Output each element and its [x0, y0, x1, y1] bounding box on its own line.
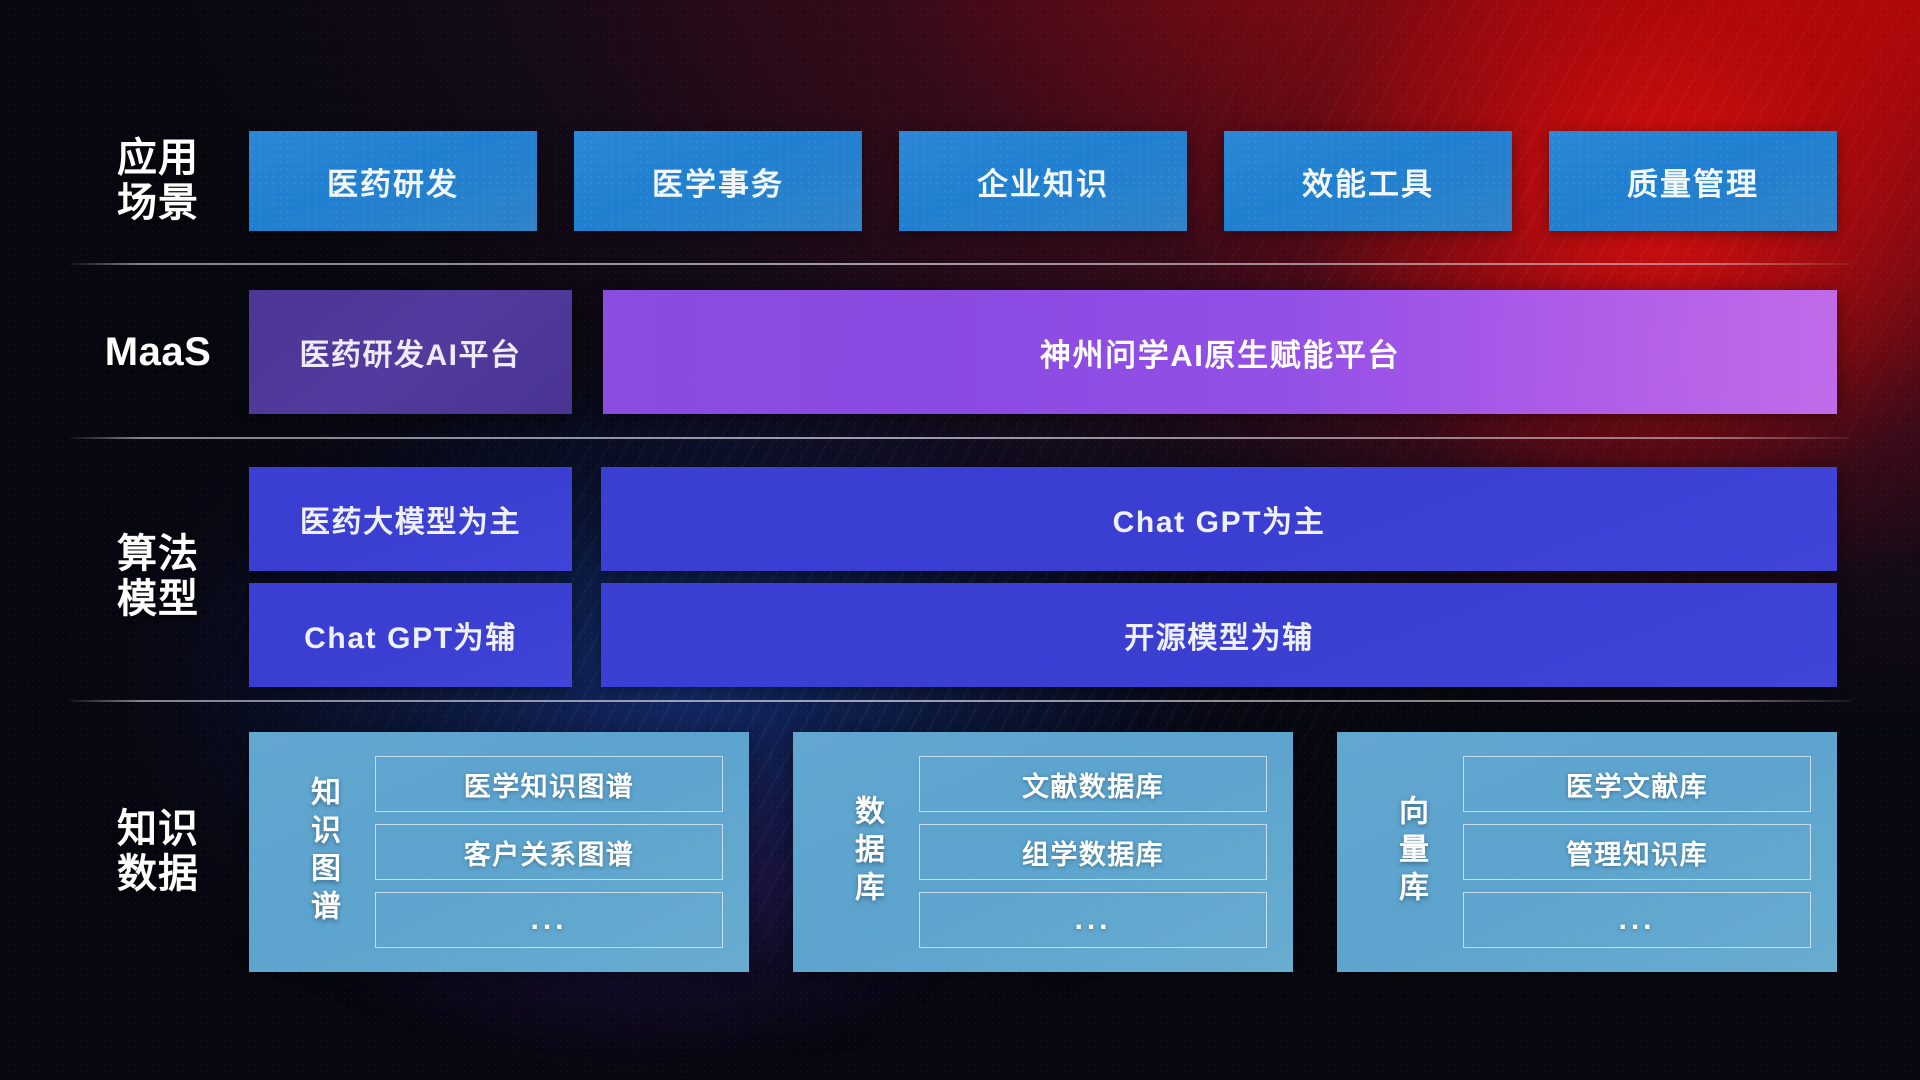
maas-card-label: 神州问学AI原生赋能平台: [1040, 330, 1400, 375]
algorithm-card-label: 医药大模型为主: [300, 497, 521, 541]
knowledge-panel-title: 数据库: [793, 732, 905, 972]
divider-after-maas: [70, 437, 1850, 439]
scenario-card-label: 效能工具: [1302, 159, 1434, 204]
row-label-maas: MaaS: [84, 290, 232, 414]
knowledge-item[interactable]: 文献数据库: [919, 756, 1267, 812]
maas-card-label: 医药研发AI平台: [300, 330, 522, 374]
scenario-card-label: 医学事务: [652, 159, 784, 204]
maas-card-medicine-rd-ai-platform[interactable]: 医药研发AI平台: [249, 290, 572, 414]
knowledge-item-more[interactable]: ...: [1463, 892, 1811, 948]
knowledge-panel-knowledge-graph[interactable]: 知识图谱 医学知识图谱 客户关系图谱 ...: [249, 732, 749, 972]
algorithm-card-label: Chat GPT为主: [1113, 497, 1326, 541]
knowledge-panel-items: 医学知识图谱 客户关系图谱 ...: [361, 732, 749, 972]
scenario-card-medical-affairs[interactable]: 医学事务: [574, 131, 862, 231]
maas-card-shenzhou-wenxue-platform[interactable]: 神州问学AI原生赋能平台: [603, 290, 1837, 414]
scenario-card-label: 医药研发: [327, 159, 459, 204]
knowledge-panel-vector-store[interactable]: 向量库 医学文献库 管理知识库 ...: [1337, 732, 1837, 972]
scenario-card-label: 企业知识: [977, 159, 1109, 204]
algorithm-card-medicine-large-model-primary[interactable]: 医药大模型为主: [249, 467, 572, 571]
algorithm-card-chatgpt-primary[interactable]: Chat GPT为主: [601, 467, 1837, 571]
architecture-rows: 应用 场景 医药研发 医学事务 企业知识 效能工具 质量管理 MaaS 医药研发…: [0, 0, 1920, 1080]
divider-after-algorithm-model: [70, 700, 1850, 702]
knowledge-item-more[interactable]: ...: [375, 892, 723, 948]
algorithm-card-label: Chat GPT为辅: [304, 613, 517, 657]
slide-canvas: 应用 场景 医药研发 医学事务 企业知识 效能工具 质量管理 MaaS 医药研发…: [0, 0, 1920, 1080]
scenario-card-quality-management[interactable]: 质量管理: [1549, 131, 1837, 231]
row-label-application-scenarios: 应用 场景: [84, 121, 232, 241]
knowledge-item[interactable]: 客户关系图谱: [375, 824, 723, 880]
knowledge-panel-database[interactable]: 数据库 文献数据库 组学数据库 ...: [793, 732, 1293, 972]
knowledge-item-more[interactable]: ...: [919, 892, 1267, 948]
scenario-card-label: 质量管理: [1627, 159, 1759, 204]
scenario-card-enterprise-knowledge[interactable]: 企业知识: [899, 131, 1187, 231]
algorithm-card-chatgpt-secondary[interactable]: Chat GPT为辅: [249, 583, 572, 687]
knowledge-panel-items: 文献数据库 组学数据库 ...: [905, 732, 1293, 972]
knowledge-item[interactable]: 管理知识库: [1463, 824, 1811, 880]
knowledge-item[interactable]: 医学文献库: [1463, 756, 1811, 812]
row-label-algorithm-model: 算法 模型: [84, 467, 232, 687]
knowledge-item[interactable]: 组学数据库: [919, 824, 1267, 880]
knowledge-panel-title: 知识图谱: [249, 732, 361, 972]
row-label-knowledge-data: 知识 数据: [84, 732, 232, 972]
knowledge-item[interactable]: 医学知识图谱: [375, 756, 723, 812]
scenario-card-efficiency-tools[interactable]: 效能工具: [1224, 131, 1512, 231]
knowledge-panel-title: 向量库: [1337, 732, 1449, 972]
knowledge-panel-items: 医学文献库 管理知识库 ...: [1449, 732, 1837, 972]
algorithm-card-label: 开源模型为辅: [1124, 613, 1314, 657]
scenario-card-medicine-rd[interactable]: 医药研发: [249, 131, 537, 231]
divider-after-application-scenarios: [70, 263, 1850, 265]
algorithm-card-opensource-model-secondary[interactable]: 开源模型为辅: [601, 583, 1837, 687]
